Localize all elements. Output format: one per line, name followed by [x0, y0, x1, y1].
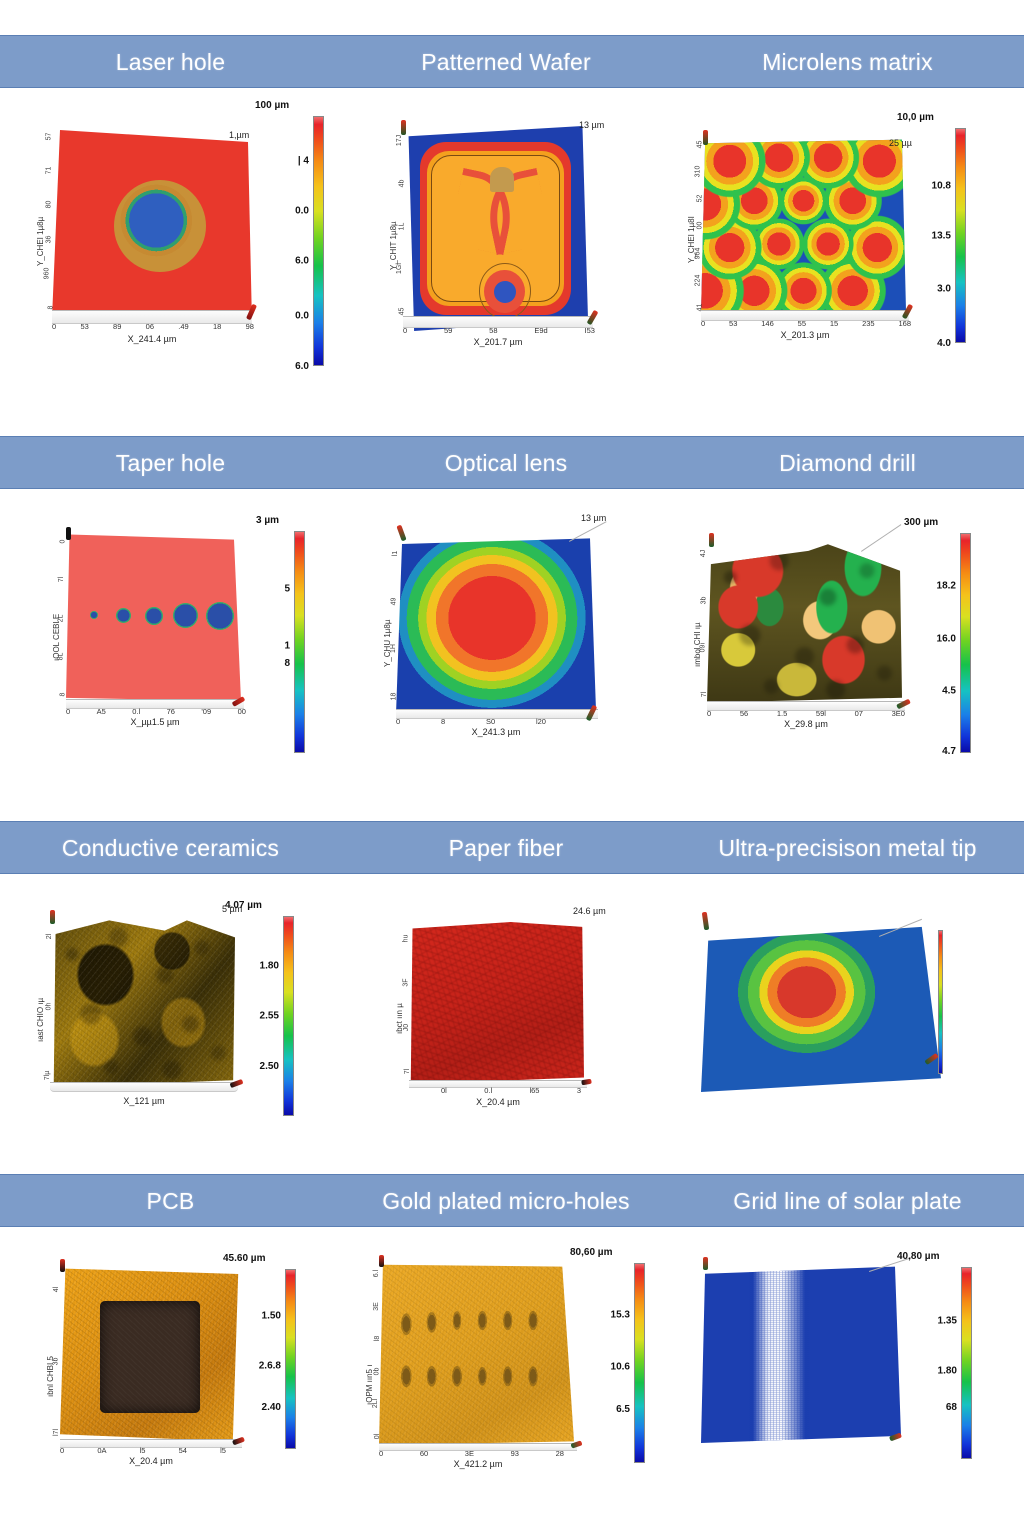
xlabel-taper-hole: X_µµ1.5 µm: [66, 717, 244, 727]
colorbar-ultra-precision-metal-tip: [938, 930, 943, 1074]
xlabel-patterned-wafer: X_201.7 µm: [403, 337, 593, 347]
title-gold-plated-micro-holes: Gold plated micro-holes: [341, 1175, 671, 1228]
colorbar-gradient: [634, 1263, 645, 1463]
title-pcb: PCB: [0, 1175, 341, 1228]
colorbar-gradient: [938, 930, 943, 1074]
plot-row-2: 0 A5 0.l 76 '09 00 X_µµ1.5 µm ıOOL CEBI …: [0, 489, 1024, 821]
colorbar-min: 2.50: [260, 1061, 279, 1072]
yticks-gold-plated-micro-holes: 6.l 3E l8 0b 2Ll 0l: [372, 1269, 381, 1441]
colorbar-tick: 0.0: [295, 206, 309, 217]
ztag-optical-lens: 13 µm: [581, 513, 606, 523]
surface-patterned-wafer: [403, 126, 588, 331]
surface-conductive-ceramics: [50, 917, 235, 1087]
colorbar-gradient: [313, 116, 324, 366]
plot-row-1: 0 53 89 06 .49 18 98 X_241.4 µm Y_CHEI 1…: [0, 88, 1024, 436]
xlabel-conductive-ceramics: X_121 µm: [50, 1096, 238, 1106]
colorbar-gradient: [961, 1267, 972, 1459]
ztag-paper-fiber: 24.6 µm: [573, 906, 606, 916]
title-paper-fiber: Paper fiber: [341, 822, 671, 875]
title-diamond-drill: Diamond drill: [671, 437, 1024, 490]
row-header-2: Taper hole Optical lens Diamond drill: [0, 436, 1024, 489]
colorbar-tick: 2.55: [260, 1011, 279, 1022]
yticks-conductive-ceramics: 2l 0h 7lµ: [44, 932, 53, 1080]
title-optical-lens: Optical lens: [341, 437, 671, 490]
plot-tile-gold-plated-micro-holes[interactable]: 0 60 3E 93 28 X_421.2 µm ıOPM ıın5 ı 6.l…: [341, 1227, 671, 1510]
plot-tile-taper-hole[interactable]: 0 A5 0.l 76 '09 00 X_µµ1.5 µm ıOOL CEBI …: [0, 489, 341, 821]
colorbar-conductive-ceramics: 4.07 µm 1.80 2.55 2.50: [283, 916, 294, 1116]
colorbar-min: 68: [946, 1402, 957, 1413]
yticks-diamond-drill: 4J 3b 09ı 7l: [699, 549, 709, 699]
colorbar-max: 4.07 µm: [225, 900, 262, 911]
title-text: Diamond drill: [779, 450, 916, 477]
xticks-laser-hole: 0 53 89 06 .49 18 98: [52, 322, 254, 331]
colorbar-tick: 4.5: [942, 686, 956, 697]
colorbar-min: 4.0: [937, 338, 951, 349]
colorbar-tick: 3.0: [937, 284, 951, 295]
colorbar-tick: 1.80: [938, 1365, 957, 1376]
top-spacer: [0, 0, 1024, 35]
xlabel-pcb: X_20.4 µm: [60, 1456, 242, 1466]
title-text: Ultra-precisison metal tip: [718, 835, 976, 862]
plot-tile-pcb[interactable]: 0 0A l5 54 l5 X_20.4 µm ıbnl CHBI 5 4l 3…: [0, 1227, 341, 1510]
xlabel-optical-lens: X_241.3 µm: [396, 727, 596, 737]
surface-grid-line-of-solar-plate: [701, 1263, 901, 1443]
ztag-microlens-matrix: 25 µµ: [889, 138, 912, 148]
xticks-microlens-matrix: 0 53 146 55 15 235 168: [701, 319, 911, 328]
plot-tile-optical-lens[interactable]: 0 8 S0 l20 X_241.3 µm Y_CHU 1µ8µ l1 49 1…: [341, 489, 671, 821]
colorbar-tick: 5: [284, 583, 290, 594]
yticks-laser-hole: 57 71 80 36 960 8: [42, 132, 54, 312]
gallery-page: Laser hole Patterned Wafer Microlens mat…: [0, 0, 1024, 1536]
plot-tile-patterned-wafer[interactable]: 0 59 58 E9d I53 X_201.7 µm Y_CHIT 1µ8µ 1…: [341, 88, 671, 436]
title-text: Gold plated micro-holes: [382, 1188, 630, 1215]
xlabel-diamond-drill: X_29.8 µm: [707, 719, 905, 729]
title-text: PCB: [147, 1188, 195, 1215]
colorbar-gradient: [294, 531, 305, 753]
colorbar-tick: 0.0: [295, 311, 309, 322]
colorbar-tick: | 4: [298, 156, 309, 167]
xlabel-paper-fiber: X_20.4 µm: [409, 1097, 587, 1107]
colorbar-min: 2.40: [262, 1402, 281, 1413]
title-text: Microlens matrix: [762, 49, 933, 76]
surface-diamond-drill: [707, 541, 902, 706]
title-grid-line-of-solar-plate: Grid line of solar plate: [671, 1175, 1024, 1228]
colorbar-tick: 1.35: [938, 1315, 957, 1326]
ztag-laser-hole: 1,µm: [229, 130, 249, 140]
colorbar-gradient: [955, 128, 966, 343]
colorbar-gradient: [283, 916, 294, 1116]
surface-optical-lens: [396, 531, 596, 716]
colorbar-max: 100 µm: [255, 100, 289, 111]
title-text: Laser hole: [116, 49, 225, 76]
yticks-paper-fiber: hu 3F J0 7l: [403, 934, 411, 1076]
colorbar-max: 300 µm: [904, 517, 938, 528]
title-text: Patterned Wafer: [421, 49, 591, 76]
plot-row-3: X_121 µm ıast CHIO ıµ 2l 0h 7lµ 5 µm 4.0…: [0, 874, 1024, 1174]
plot-tile-ultra-precision-metal-tip[interactable]: [671, 874, 1024, 1174]
title-text: Grid line of solar plate: [733, 1188, 962, 1215]
colorbar-gradient: [960, 533, 971, 753]
plot-tile-diamond-drill[interactable]: 0 56 1.5 59l 07 3E0 X_29.8 µm ımbol CHI …: [671, 489, 1024, 821]
colorbar-min: 8: [284, 658, 290, 669]
surface-microlens-matrix: [701, 136, 906, 316]
xticks-paper-fiber: 0l 0.l l65 3: [441, 1086, 581, 1095]
title-taper-hole: Taper hole: [0, 437, 341, 490]
colorbar-min: 6.5: [616, 1404, 630, 1415]
colorbar-tick: 2.6.8: [259, 1361, 281, 1372]
xlabel-gold-plated-micro-holes: X_421.2 µm: [379, 1459, 577, 1469]
colorbar-grid-line-of-solar-plate: 40,80 µm 1.35 1.80 68: [961, 1267, 972, 1459]
xticks-optical-lens: 0 8 S0 l20: [396, 717, 546, 726]
surface-gold-plated-micro-holes: [379, 1261, 574, 1447]
xticks-patterned-wafer: 0 59 58 E9d I53: [403, 326, 595, 335]
colorbar-pcb: 45.60 µm 1.50 2.6.8 2.40: [285, 1269, 296, 1449]
colorbar-tick: 1: [284, 641, 290, 652]
colorbar-tick: 16.0: [937, 633, 956, 644]
row-header-4: PCB Gold plated micro-holes Grid line of…: [0, 1174, 1024, 1227]
xlabel-laser-hole: X_241.4 µm: [52, 334, 252, 344]
surface-taper-hole: [66, 531, 241, 703]
ztag-patterned-wafer: 13 µm: [579, 120, 604, 130]
colorbar-tick: 6.0: [295, 256, 309, 267]
title-patterned-wafer: Patterned Wafer: [341, 36, 671, 89]
colorbar-laser-hole: 100 µm | 4 0.0 6.0 0.0 6.0: [313, 116, 324, 366]
colorbar-max: 45.60 µm: [223, 1253, 265, 1264]
plot-tile-paper-fiber[interactable]: 0l 0.l l65 3 X_20.4 µm ıbct ıın µ hu 3F …: [341, 874, 671, 1174]
colorbar-diamond-drill: 300 µm 18.2 16.0 4.5 4.7: [960, 533, 971, 753]
colorbar-tick: 1.50: [262, 1310, 281, 1321]
xticks-diamond-drill: 0 56 1.5 59l 07 3E0: [707, 709, 905, 718]
surface-ultra-precision-metal-tip: [701, 920, 941, 1092]
title-laser-hole: Laser hole: [0, 36, 341, 89]
row-header-1: Laser hole Patterned Wafer Microlens mat…: [0, 35, 1024, 88]
surface-paper-fiber: [409, 922, 584, 1084]
xticks-pcb: 0 0A l5 54 l5: [60, 1446, 226, 1455]
colorbar-tick: 15.3: [611, 1310, 630, 1321]
colorbar-tick: 18.2: [937, 580, 956, 591]
xlabel-microlens-matrix: X_201.3 µm: [701, 330, 909, 340]
colorbar-max: 40,80 µm: [897, 1251, 939, 1262]
yticks-microlens-matrix: 45 310 52 00 964 224 41: [693, 140, 705, 312]
title-text: Optical lens: [445, 450, 568, 477]
colorbar-gold-plated-micro-holes: 80,60 µm 15.3 10.6 6.5: [634, 1263, 645, 1463]
title-ultra-precision-metal-tip: Ultra-precisison metal tip: [671, 822, 1024, 875]
surface-pcb: [60, 1265, 240, 1445]
plot-tile-conductive-ceramics[interactable]: X_121 µm ıast CHIO ıµ 2l 0h 7lµ 5 µm 4.0…: [0, 874, 341, 1174]
colorbar-min: 4.7: [942, 746, 956, 757]
surface-laser-hole: [52, 126, 252, 326]
xticks-taper-hole: 0 A5 0.l 76 '09 00: [66, 707, 246, 716]
title-text: Taper hole: [116, 450, 225, 477]
title-text: Paper fiber: [449, 835, 564, 862]
colorbar-tick: 13.5: [932, 230, 951, 241]
title-microlens-matrix: Microlens matrix: [671, 36, 1024, 89]
colorbar-max: 80,60 µm: [570, 1247, 612, 1258]
colorbar-tick: 10.8: [932, 181, 951, 192]
plot-row-4: 0 0A l5 54 l5 X_20.4 µm ıbnl CHBI 5 4l 3…: [0, 1227, 1024, 1510]
plot-tile-laser-hole[interactable]: 0 53 89 06 .49 18 98 X_241.4 µm Y_CHEI 1…: [0, 88, 341, 436]
yticks-taper-hole: 0 7l 2L 8L 8: [58, 537, 66, 699]
colorbar-min: 6.0: [295, 361, 309, 372]
yticks-patterned-wafer: 17J 4b 1L 1Gl 45: [395, 136, 406, 316]
colorbar-tick: 10.6: [611, 1362, 630, 1373]
plot-tile-microlens-matrix[interactable]: 0 53 146 55 15 235 168 X_201.3 µm Y_CHEI…: [671, 88, 1024, 436]
colorbar-tick: 1.80: [260, 961, 279, 972]
plot-tile-grid-line-of-solar-plate[interactable]: 40,80 µm 1.35 1.80 68: [671, 1227, 1024, 1510]
colorbar-taper-hole: 3 µm 5 1 8: [294, 531, 305, 753]
xticks-gold-plated-micro-holes: 0 60 3E 93 28: [379, 1449, 564, 1458]
title-conductive-ceramics: Conductive ceramics: [0, 822, 341, 875]
colorbar-max: 10,0 µm: [897, 112, 934, 123]
colorbar-max: 3 µm: [256, 515, 279, 526]
title-text: Conductive ceramics: [62, 835, 279, 862]
yticks-pcb: 4l 3b l7l: [53, 1285, 61, 1437]
colorbar-microlens-matrix: 10,0 µm 10.8 13.5 3.0 4.0: [955, 128, 966, 343]
row-header-3: Conductive ceramics Paper fiber Ultra-pr…: [0, 821, 1024, 874]
colorbar-gradient: [285, 1269, 296, 1449]
yticks-optical-lens: l1 49 1H 18: [390, 549, 399, 701]
